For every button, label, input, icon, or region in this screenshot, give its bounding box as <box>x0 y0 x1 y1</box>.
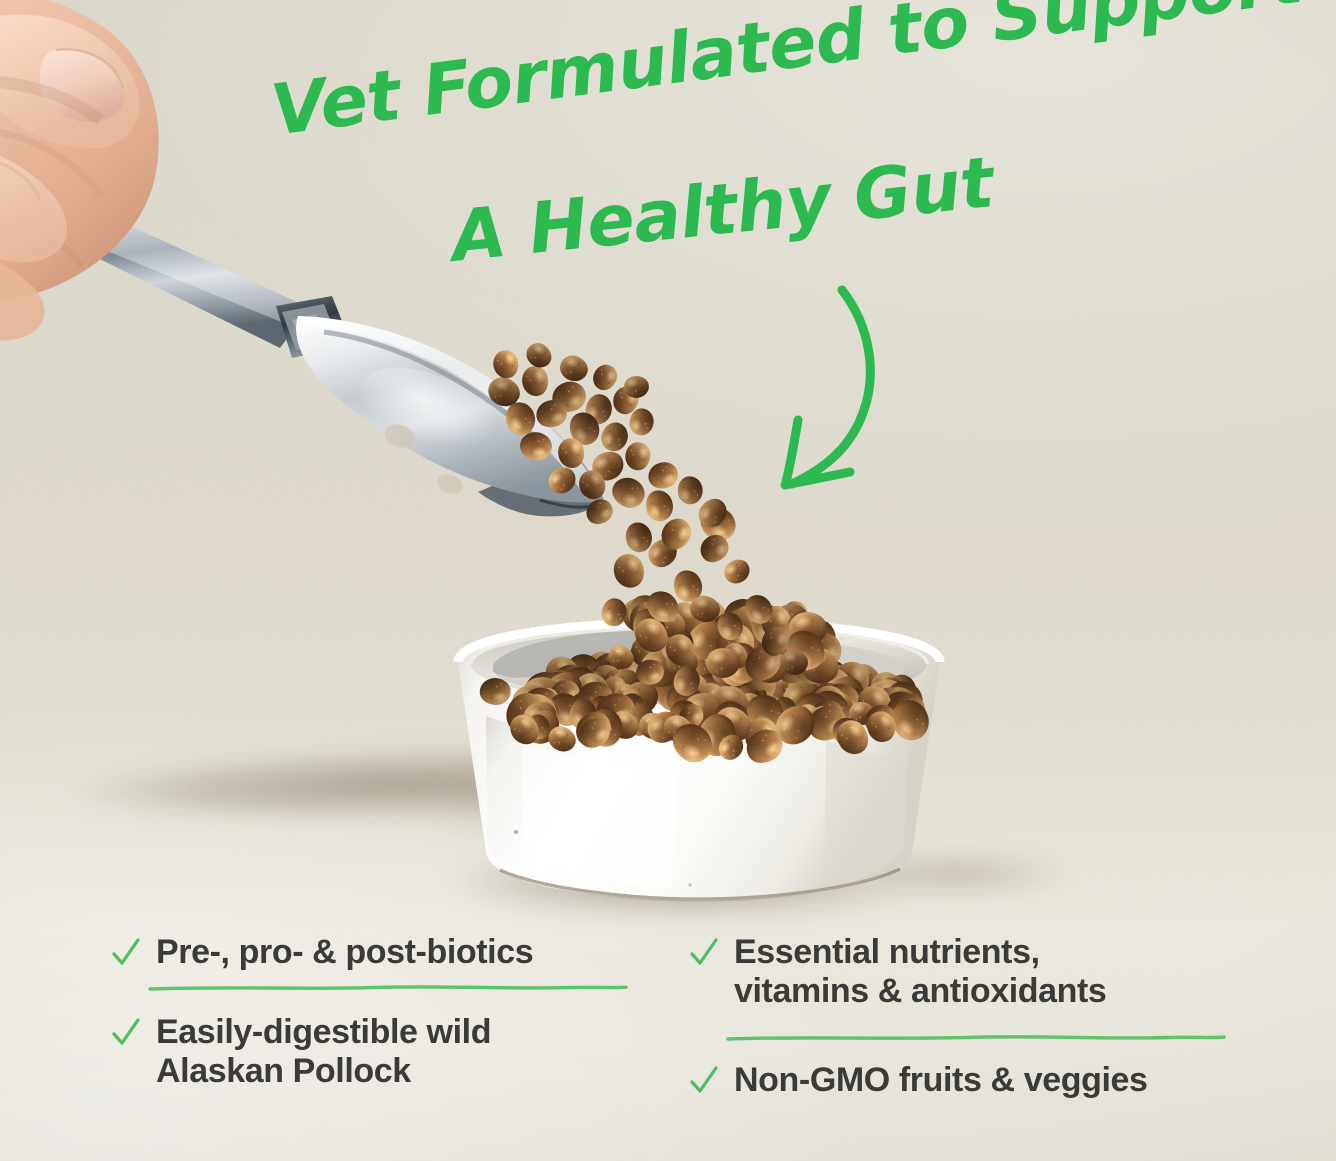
feature-text: Non-GMO fruits & veggies <box>734 1061 1148 1100</box>
check-icon <box>690 938 718 968</box>
feature-text: Essential nutrients, vitamins & antioxid… <box>734 933 1106 1011</box>
hand-illustration <box>0 0 320 410</box>
promo-banner: Vet Formulated to Support A Healthy Gut … <box>0 0 1336 1161</box>
feature-divider-left <box>148 983 628 993</box>
feature-divider-right <box>726 1033 1226 1043</box>
feature-item-pollock: Easily-digestible wild Alaskan Pollock <box>112 1013 491 1091</box>
check-icon <box>690 1066 718 1096</box>
check-icon <box>112 938 140 968</box>
feature-item-nutrients: Essential nutrients, vitamins & antioxid… <box>690 933 1106 1011</box>
feature-text: Easily-digestible wild Alaskan Pollock <box>156 1013 491 1091</box>
feature-item-prebiotics: Pre-, pro- & post-biotics <box>112 933 533 972</box>
kibble-piece <box>480 678 511 705</box>
feature-item-nongmo: Non-GMO fruits & veggies <box>690 1061 1148 1100</box>
feature-list: Pre-, pro- & post-biotics Easily-digesti… <box>0 925 1336 1115</box>
feature-text: Pre-, pro- & post-biotics <box>156 933 533 972</box>
check-icon <box>112 1018 140 1048</box>
